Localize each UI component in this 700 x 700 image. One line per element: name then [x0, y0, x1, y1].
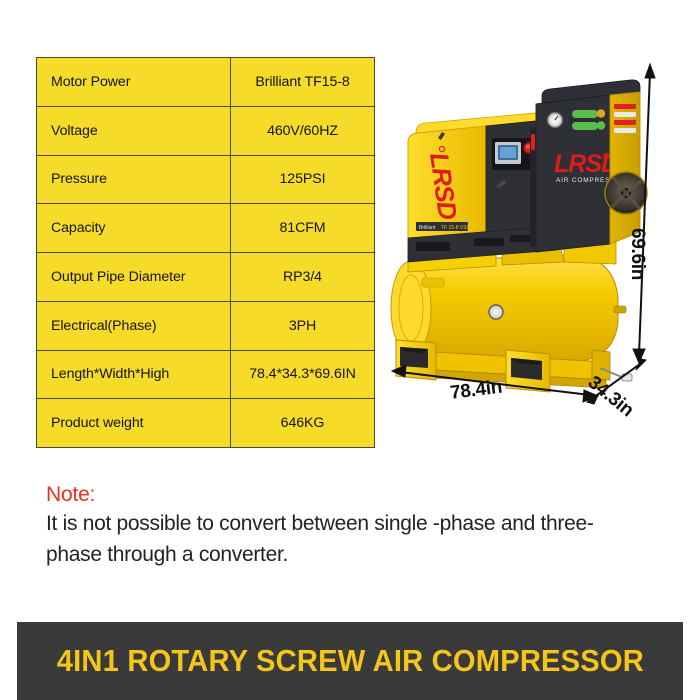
table-row: Motor Power Brilliant TF15-8 [37, 58, 375, 107]
bottom-banner: 4IN1 ROTARY SCREW AIR COMPRESSOR [17, 622, 683, 700]
spec-value: 78.4*34.3*69.6IN [231, 350, 375, 399]
spec-value: RP3/4 [231, 253, 375, 302]
banner-title: 4IN1 ROTARY SCREW AIR COMPRESSOR [56, 643, 643, 679]
spec-label: Output Pipe Diameter [37, 253, 231, 302]
svg-text:TF 15-8 VSD: TF 15-8 VSD [441, 225, 471, 231]
spec-label: Electrical(Phase) [37, 301, 231, 350]
table-row: Voltage 460V/60HZ [37, 106, 375, 155]
dimension-label-height: 69.6in [626, 228, 648, 280]
spec-value: 460V/60HZ [231, 106, 375, 155]
status-indicator-green [572, 110, 598, 118]
table-row: Length*Width*High 78.4*34.3*69.6IN [37, 350, 375, 399]
spec-table-body: Motor Power Brilliant TF15-8 Voltage 460… [37, 58, 375, 448]
specification-table: Motor Power Brilliant TF15-8 Voltage 460… [36, 57, 375, 448]
status-indicator-amber [597, 109, 605, 117]
spec-value: 3PH [231, 301, 375, 350]
spec-label: Length*Width*High [37, 350, 231, 399]
spec-value: 81CFM [231, 204, 375, 253]
spec-label: Pressure [37, 155, 231, 204]
dryer-cabinet: LRSD AIR COMPRESSOR [530, 80, 647, 252]
table-row: Output Pipe Diameter RP3/4 [37, 253, 375, 302]
status-indicator-green [597, 121, 605, 129]
spec-value: 646KG [231, 399, 375, 448]
height-dimension-line [639, 72, 650, 355]
note-body: It is not possible to convert between si… [46, 508, 646, 570]
note-block: Note: It is not possible to convert betw… [46, 481, 666, 570]
spec-value: Brilliant TF15-8 [231, 58, 375, 107]
spec-label: Capacity [37, 204, 231, 253]
spec-label: Voltage [37, 106, 231, 155]
spec-label: Product weight [37, 399, 231, 448]
table-row: Pressure 125PSI [37, 155, 375, 204]
brand-logo-dryer: LRSD [554, 150, 619, 178]
spec-value: 125PSI [231, 155, 375, 204]
table-row: Product weight 646KG [37, 399, 375, 448]
table-row: Capacity 81CFM [37, 204, 375, 253]
status-indicator-green [572, 122, 598, 130]
note-heading: Note: [46, 481, 666, 508]
svg-text:Brilliant: Brilliant [419, 225, 436, 231]
fan-grille-icon [605, 172, 647, 214]
table-row: Electrical(Phase) 3PH [37, 301, 375, 350]
spec-label: Motor Power [37, 58, 231, 107]
